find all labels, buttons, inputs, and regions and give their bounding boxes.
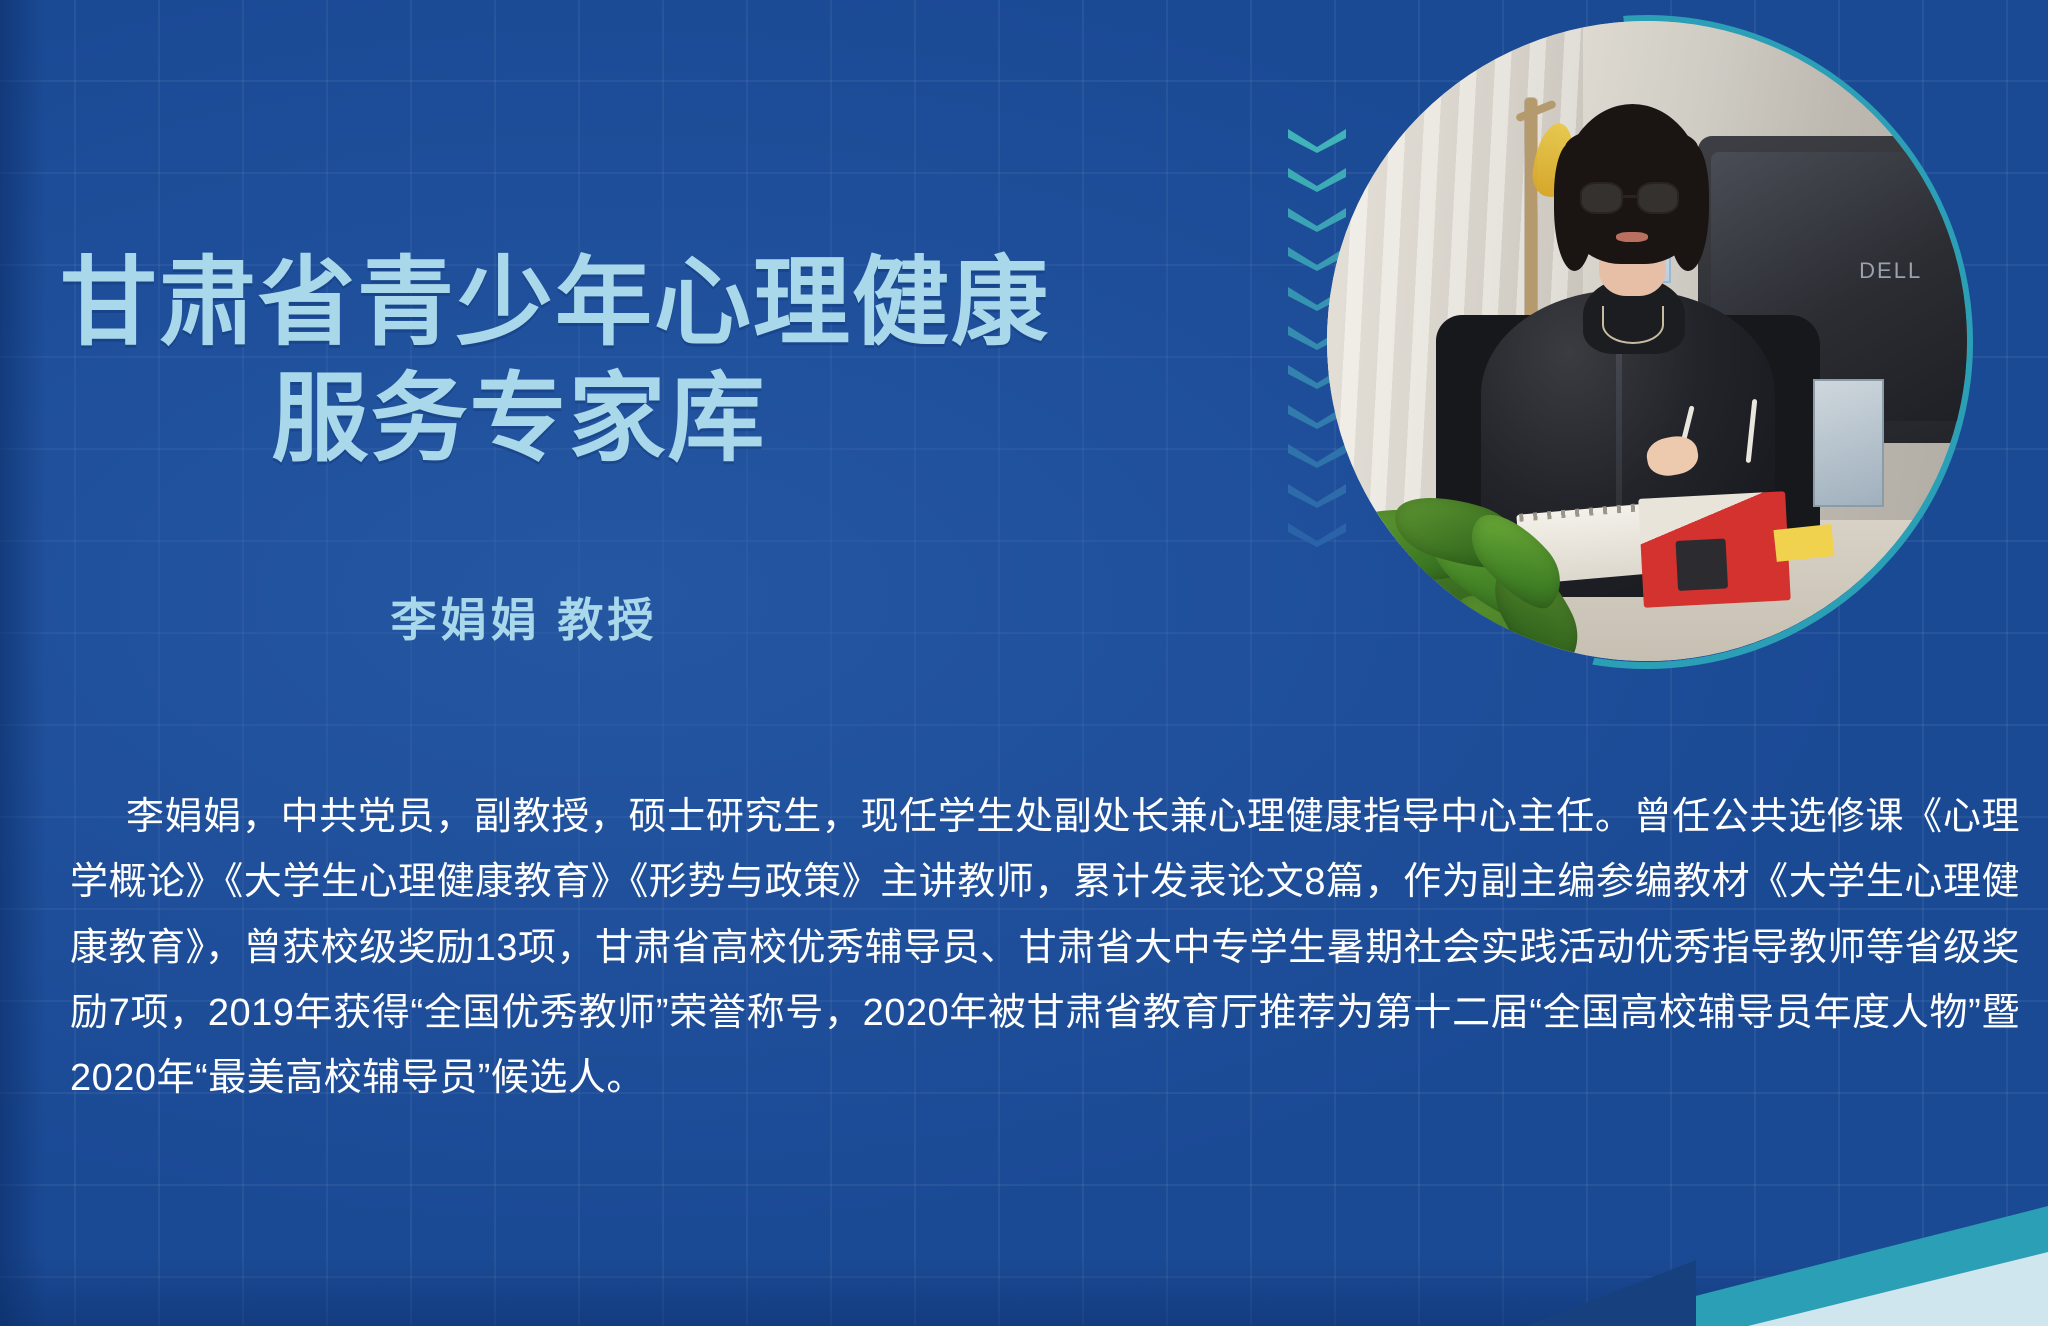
biography-text: 李娟娟，中共党员，副教授，硕士研究生，现任学生处副处长兼心理健康指导中心主任。曾… xyxy=(70,785,2020,1112)
photo-hair-bangs xyxy=(1565,126,1698,173)
photo-foreground-plant xyxy=(1327,443,1724,661)
photo-glasses-left-lens-icon xyxy=(1580,182,1622,214)
photo-glasses-bridge xyxy=(1623,195,1638,198)
photo-monitor-brand: DELL xyxy=(1859,258,1922,284)
left-edge-shadow xyxy=(0,0,46,1326)
page-title-line-1: 甘肃省青少年心理健康 xyxy=(54,245,1264,361)
portrait-photo-container: B DELL xyxy=(1327,21,1967,661)
page-title-line-2: 服务专家库 xyxy=(54,361,1264,477)
photo-necklace xyxy=(1602,306,1663,344)
person-name-title: 李娟娟 教授 xyxy=(54,584,994,650)
portrait-photo: B DELL xyxy=(1327,21,1967,661)
photo-desk-box xyxy=(1813,379,1883,507)
slide-canvas: B DELL xyxy=(0,0,2048,1326)
biography-paragraph: 李娟娟，中共党员，副教授，硕士研究生，现任学生处副处长兼心理健康指导中心主任。曾… xyxy=(70,785,2020,1112)
page-title: 甘肃省青少年心理健康 服务专家库 xyxy=(54,245,1264,478)
photo-sticky-note xyxy=(1773,524,1834,562)
photo-glasses-right-lens-icon xyxy=(1637,182,1679,214)
photo-mouth xyxy=(1616,232,1648,242)
